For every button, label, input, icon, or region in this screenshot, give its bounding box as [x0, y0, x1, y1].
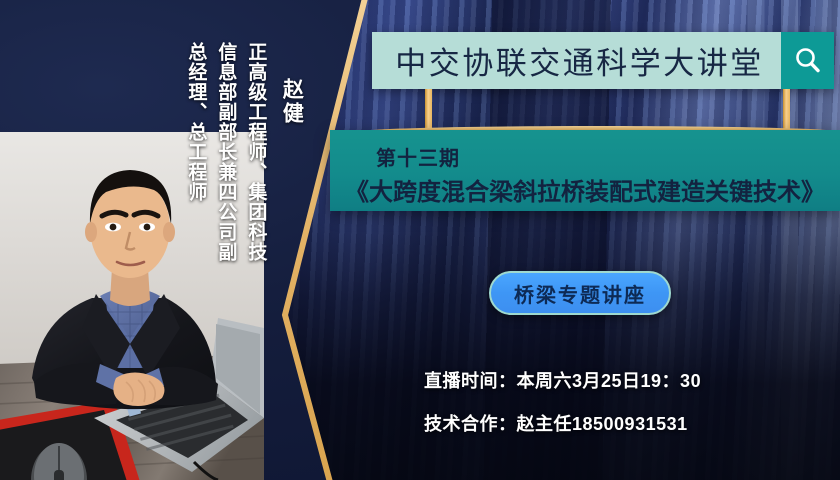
episode-label: 第十三期 — [376, 142, 460, 171]
live-time-text: 直播时间：本周六3月25日19：30 — [424, 367, 701, 393]
speaker-name: 赵健 — [281, 78, 302, 126]
webinar-poster: 赵健 正高级工程师、集团科技 信息部副部长兼四公司副 总经理、总工程师 中交协联… — [0, 0, 840, 480]
contact-text: 技术合作：赵主任18500931531 — [424, 410, 688, 436]
brand-title: 中交协联交通科学大讲堂 — [372, 32, 781, 89]
banner-support-post-left — [425, 89, 432, 130]
topic-badge[interactable]: 桥梁专题讲座 — [489, 271, 671, 315]
speaker-title-column-1: 正高级工程师、集团科技 — [246, 42, 265, 262]
search-icon — [793, 46, 823, 76]
title-banner: 第十三期 《大跨度混合梁斜拉桥装配式建造关键技术》 — [330, 130, 840, 211]
banner-support-post-right — [783, 89, 790, 130]
lecture-title: 《大跨度混合梁斜拉桥装配式建造关键技术》 — [330, 172, 840, 207]
speaker-title-column-3: 总经理、总工程师 — [186, 42, 205, 202]
search-button[interactable] — [781, 32, 834, 89]
speaker-title-column-2: 信息部副部长兼四公司副 — [216, 42, 235, 262]
brand-header-banner: 中交协联交通科学大讲堂 — [372, 32, 834, 89]
